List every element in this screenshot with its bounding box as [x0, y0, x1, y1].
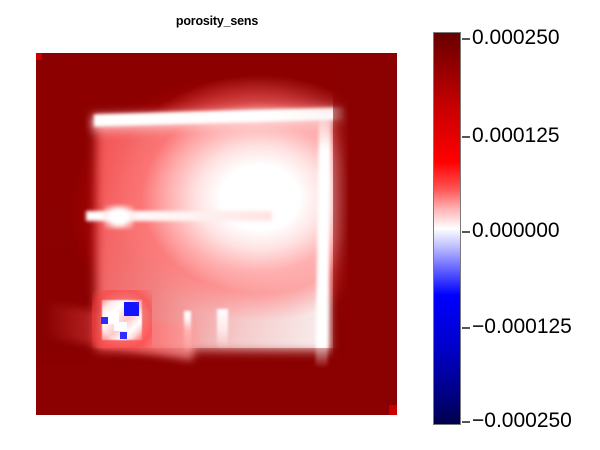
colorbar-label-upper: 0.000125 [472, 124, 560, 148]
heatmap-negative-patch [98, 296, 146, 344]
colorbar-label-min: −0.000250 [472, 409, 572, 433]
heatmap-drip-right [217, 309, 228, 349]
page-title: porosity_sens [36, 14, 398, 28]
colorbar-tick-3 [462, 327, 470, 329]
colorbar [433, 32, 461, 425]
colorbar-tick-2 [462, 231, 470, 233]
colorbar-tick-1 [462, 136, 470, 138]
heatmap-mid-white-blob [104, 205, 134, 229]
colorbar-tick-4 [462, 421, 470, 423]
colorbar-label-lower: −0.000125 [472, 315, 572, 339]
figure-canvas: porosity_sens 0.000250 0.00 [0, 0, 600, 450]
negative-patch-glow [92, 290, 152, 350]
heatmap-corner-speck-bottomright [389, 405, 397, 415]
heatmap-bottom-cutoff [36, 348, 397, 415]
colorbar-label-zero: 0.000000 [472, 219, 560, 243]
heatmap-corner-speck-topleft [36, 53, 42, 60]
colorbar-label-max: 0.000250 [472, 26, 560, 50]
heatmap-image [36, 53, 397, 415]
colorbar-tick-0 [462, 38, 470, 40]
